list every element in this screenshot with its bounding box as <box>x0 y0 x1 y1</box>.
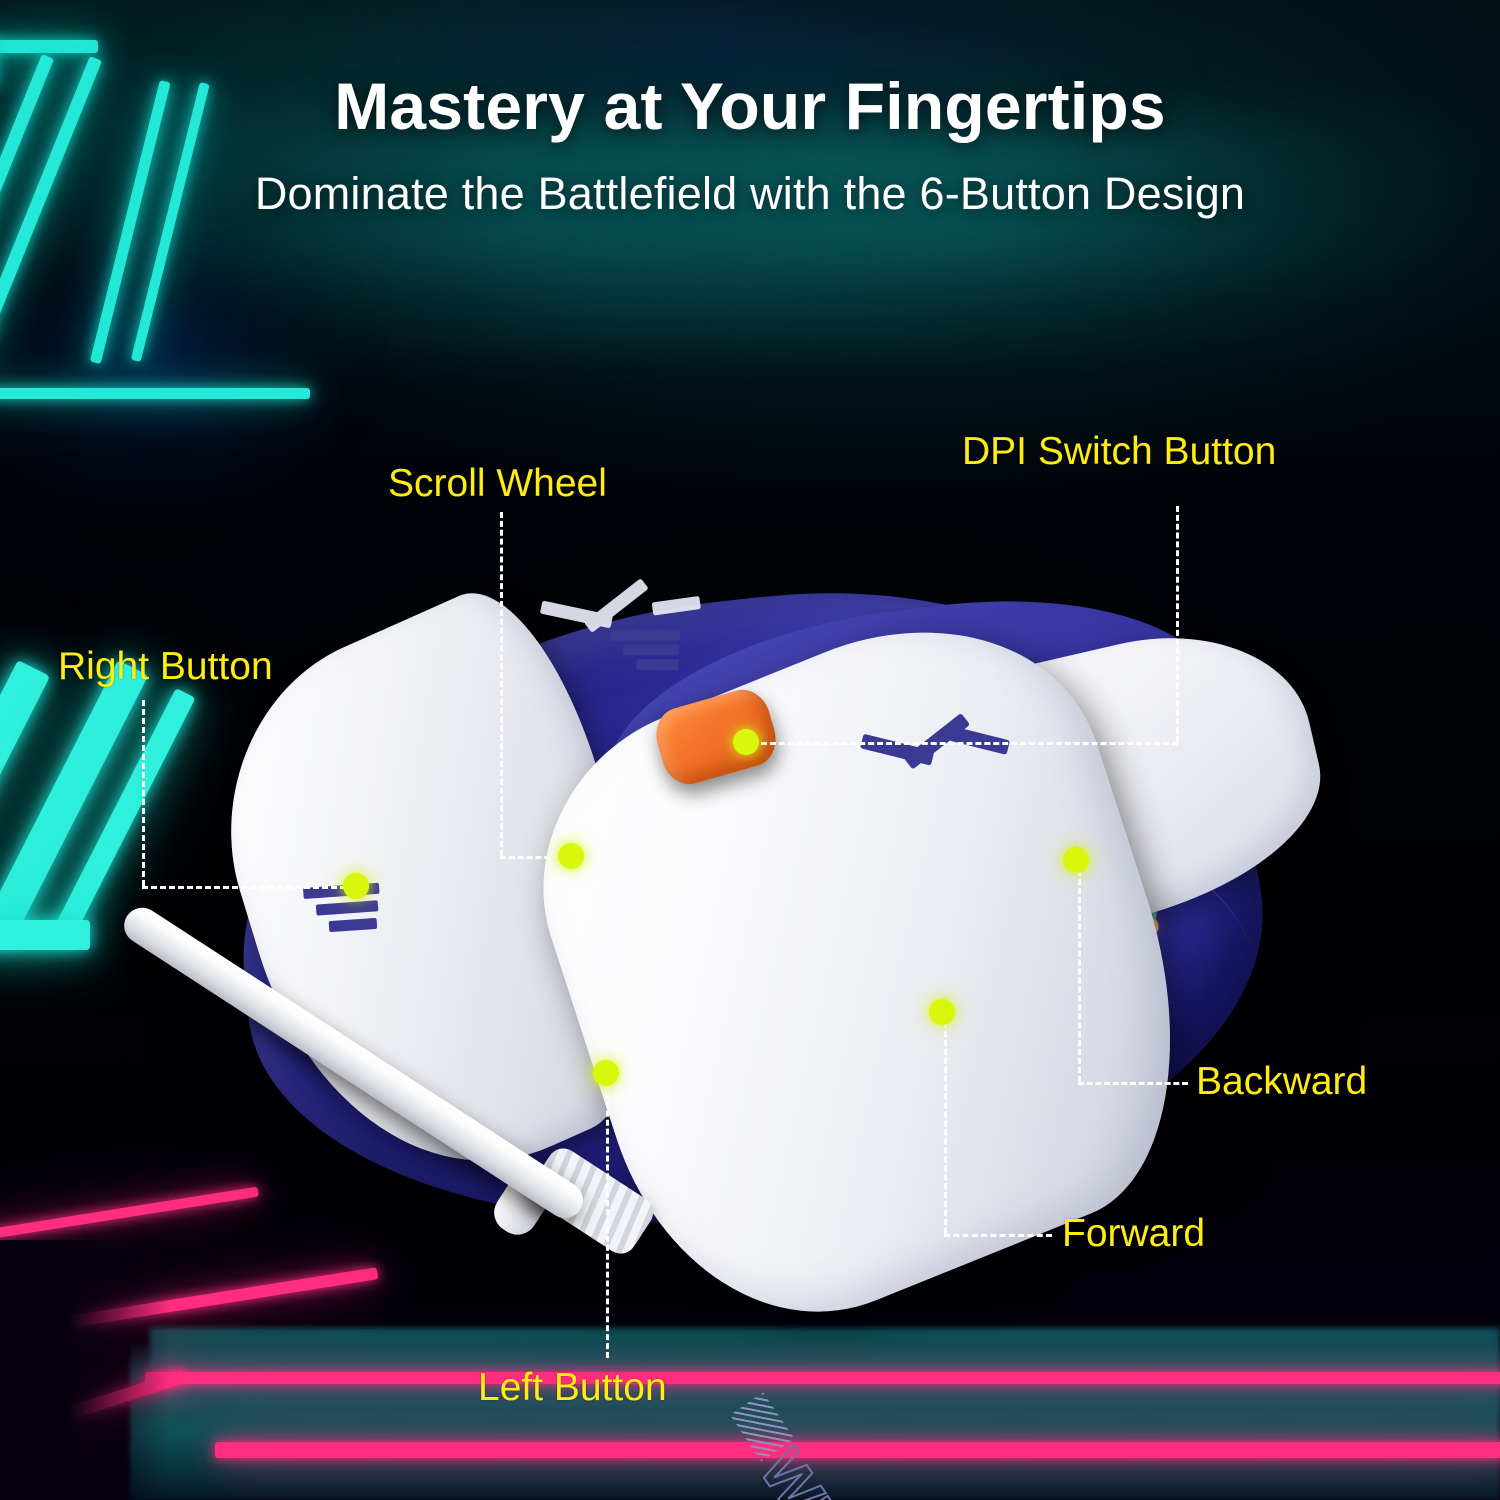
leader-backward-vertical <box>1078 870 1081 1082</box>
callout-label-right-button: Right Button <box>58 645 273 689</box>
marker-dot-backward <box>1063 847 1089 873</box>
leader-forward-horizontal <box>944 1234 1052 1237</box>
bottom-left-shade <box>0 1240 170 1500</box>
leader-right-button-vertical <box>142 700 145 886</box>
gaming-mouse-illustration: WIRED MOUSE <box>240 600 1260 1260</box>
leader-left-button-vertical <box>606 1084 609 1358</box>
callout-label-backward: Backward <box>1196 1060 1367 1104</box>
callout-label-forward: Forward <box>1062 1212 1205 1256</box>
callout-label-dpi-switch: DPI Switch Button <box>962 430 1276 474</box>
leader-dpi-horizontal <box>752 742 1178 745</box>
page-subtitle: Dominate the Battlefield with the 6-Butt… <box>0 168 1500 220</box>
marker-dot-dpi-switch <box>733 729 759 755</box>
leader-right-button-horizontal <box>142 886 346 889</box>
leader-backward-horizontal <box>1078 1082 1188 1085</box>
leader-dpi-vertical <box>1176 506 1179 742</box>
marker-dot-left-button <box>593 1060 619 1086</box>
leader-forward-vertical <box>944 1022 947 1234</box>
callout-label-scroll-wheel: Scroll Wheel <box>388 462 607 506</box>
infographic-canvas: Mastery at Your Fingertips Dominate the … <box>0 0 1500 1500</box>
leader-scroll-wheel-vertical <box>500 512 503 856</box>
marker-dot-right-button <box>343 873 369 899</box>
bottom-teal-band-2 <box>150 1328 1500 1414</box>
marker-dot-scroll-wheel <box>558 843 584 869</box>
page-title: Mastery at Your Fingertips <box>0 72 1500 142</box>
marker-dot-forward <box>929 999 955 1025</box>
callout-label-left-button: Left Button <box>478 1366 667 1410</box>
